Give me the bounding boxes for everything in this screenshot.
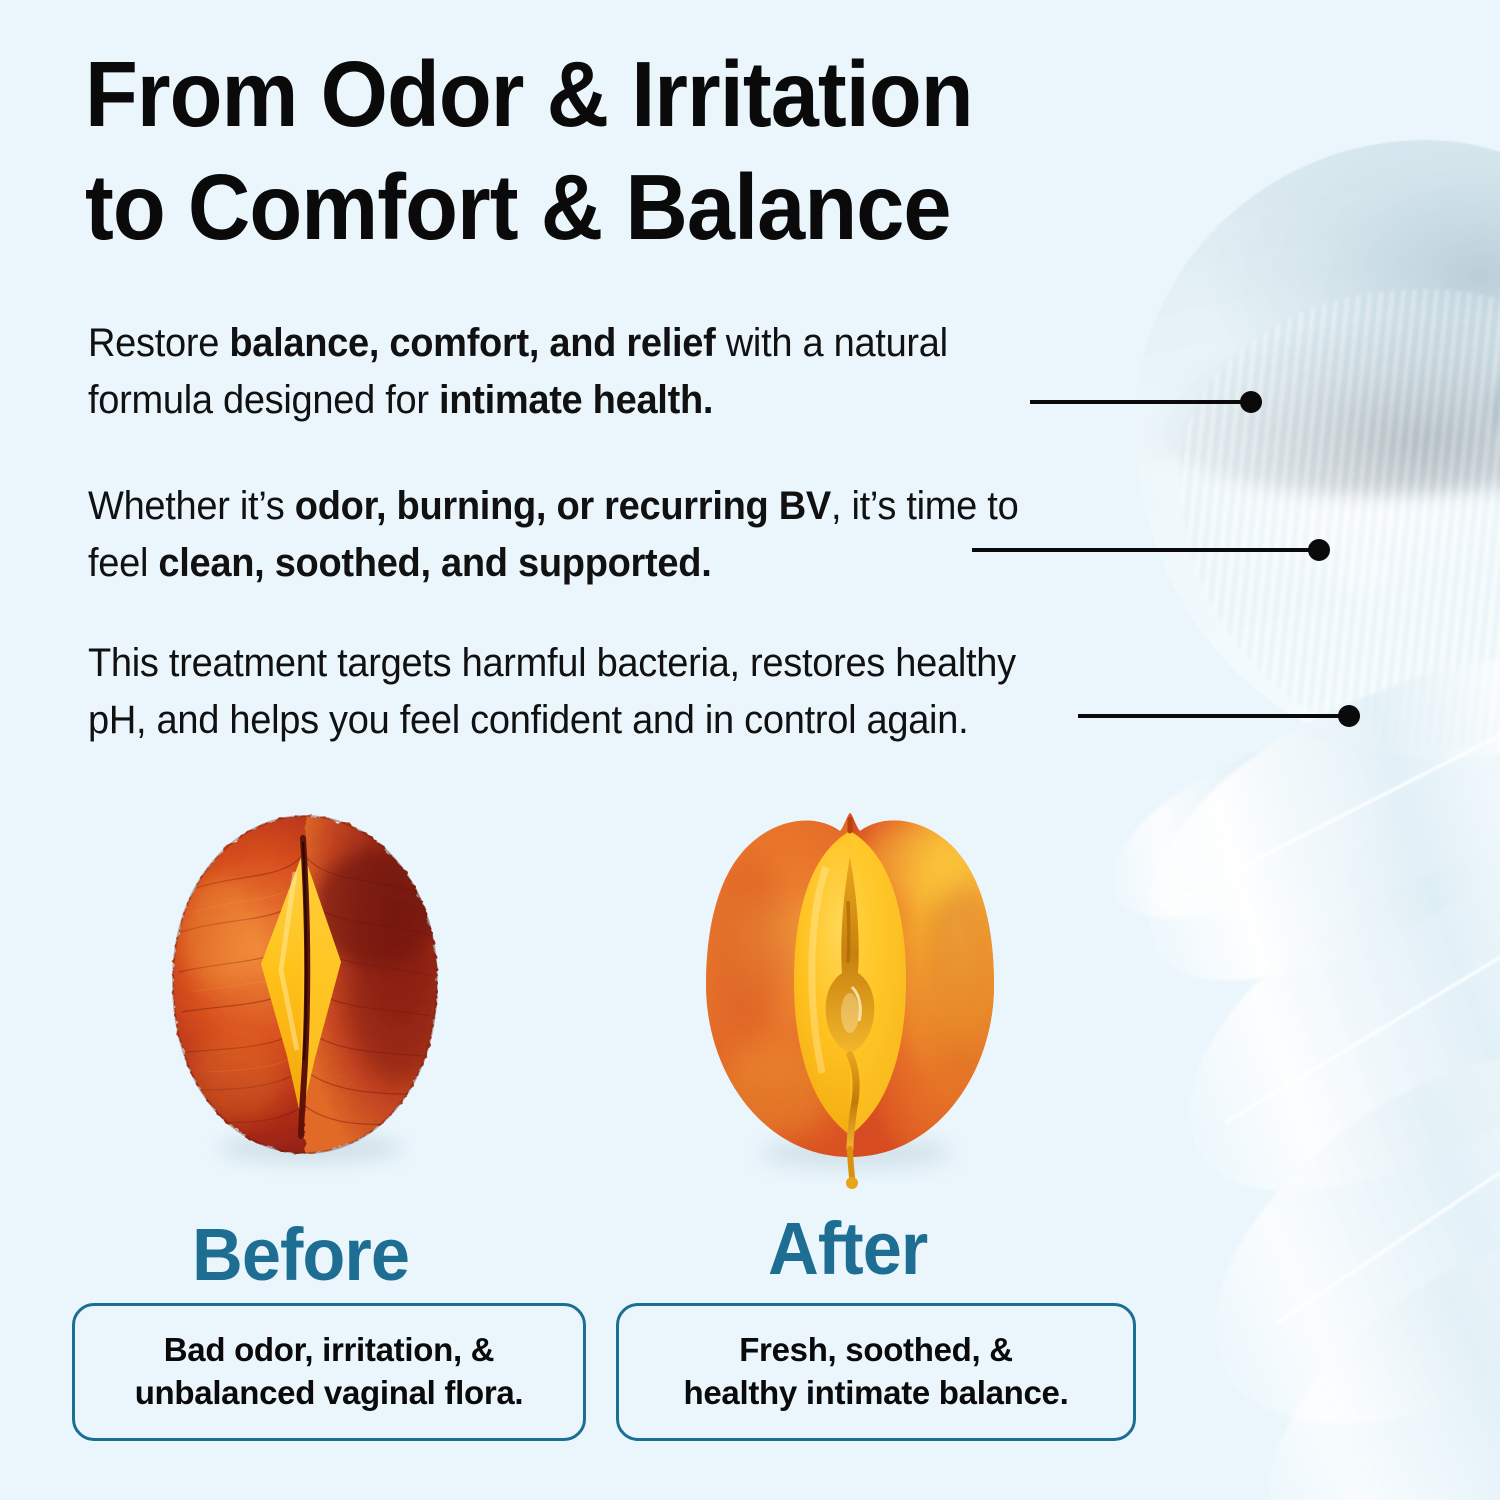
benefit-paragraph-2: Whether it’s odor, burning, or recurring… [88,478,1048,592]
before-heading: Before [192,1212,409,1297]
connector-dot-icon [1308,539,1330,561]
before-fruit-image [165,812,445,1157]
before-caption-line-1: Bad odor, irritation, & [135,1329,524,1372]
gel-blob-top-icon [1135,140,1500,760]
emphasis-text: clean, soothed, and supported. [158,541,711,585]
body-text: Restore [88,321,229,365]
headline-line-2: to Comfort & Balance [85,151,1127,264]
after-caption-line-2: healthy intimate balance. [684,1372,1069,1415]
emphasis-text: odor, burning, or recurring BV [295,484,831,528]
emphasis-text: balance, comfort, and relief [229,321,715,365]
connector-line-3 [1078,714,1350,718]
page-headline: From Odor & Irritation to Comfort & Bala… [85,38,1127,265]
connector-dot-icon [1240,391,1262,413]
headline-line-1: From Odor & Irritation [85,38,1127,151]
after-heading: After [768,1206,927,1291]
connector-dot-icon [1338,705,1360,727]
connector-line-2 [972,548,1320,552]
connector-line-1 [1030,400,1252,404]
before-caption-box: Bad odor, irritation, & unbalanced vagin… [72,1303,586,1441]
after-fruit-image [700,805,1000,1165]
after-caption-line-1: Fresh, soothed, & [684,1329,1069,1372]
body-text: This treatment targets harmful bacteria,… [88,641,1016,742]
body-text: Whether it’s [88,484,295,528]
after-caption-box: Fresh, soothed, & healthy intimate balan… [616,1303,1136,1441]
benefit-paragraph-3: This treatment targets harmful bacteria,… [88,635,1048,749]
benefit-paragraph-1: Restore balance, comfort, and relief wit… [88,315,1048,429]
emphasis-text: intimate health. [439,378,713,422]
before-caption-line-2: unbalanced vaginal flora. [135,1372,524,1415]
